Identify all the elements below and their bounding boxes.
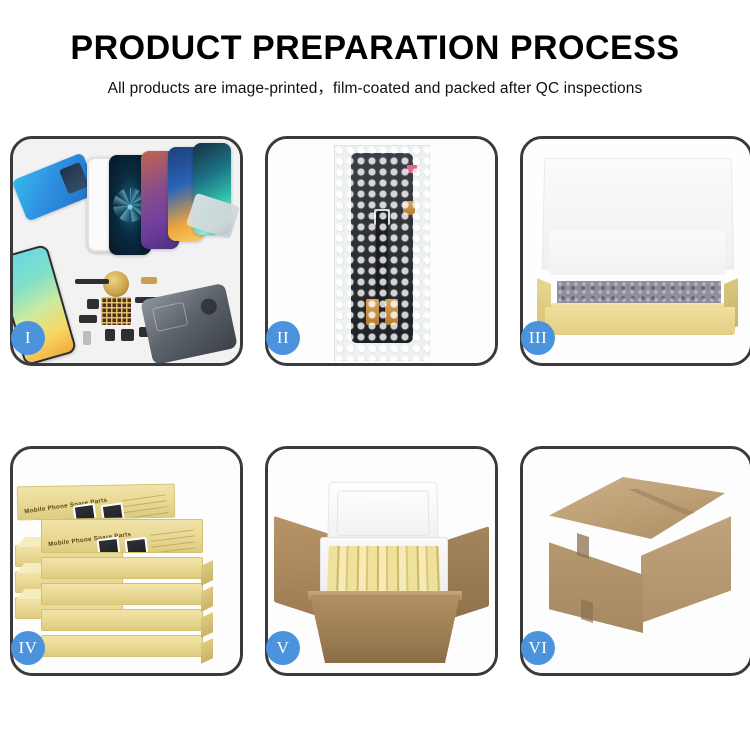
foam-lid-icon xyxy=(327,482,439,545)
stacked-box xyxy=(41,635,203,657)
step-badge-4: IV xyxy=(11,631,45,665)
tape-icon xyxy=(403,201,415,215)
pink-label-icon xyxy=(407,165,417,173)
adhesive-film-icon xyxy=(13,152,98,221)
process-step-panel-2: II xyxy=(265,136,498,366)
box-stack-icon: Mobile Phone Spare Parts Mobile Phone Sp… xyxy=(13,449,240,673)
step-badge-3: III xyxy=(521,321,555,355)
stacked-box-printed: Mobile Phone Spare Parts xyxy=(41,519,203,553)
step-2-image xyxy=(268,139,495,363)
small-part-icon xyxy=(87,299,99,309)
step-badge-6: VI xyxy=(521,631,555,665)
product-preparation-page: PRODUCT PREPARATION PROCESS All products… xyxy=(0,0,750,750)
step-1-image xyxy=(13,139,240,363)
step-badge-1: I xyxy=(11,321,45,355)
tape-icon xyxy=(366,299,379,325)
chip-grid-icon xyxy=(101,297,131,325)
page-header: PRODUCT PREPARATION PROCESS All products… xyxy=(0,0,750,98)
process-step-panel-3: III xyxy=(520,136,750,366)
stacked-box xyxy=(41,557,203,579)
step-badge-2: II xyxy=(266,321,300,355)
tape-icon xyxy=(385,299,398,325)
box-side-edge-icon xyxy=(201,638,213,664)
carton-tape-icon xyxy=(581,599,593,623)
small-part-icon xyxy=(79,315,97,323)
small-part-icon xyxy=(141,277,157,284)
step-6-image xyxy=(523,449,750,673)
small-part-icon xyxy=(105,329,115,341)
foam-sheet-icon xyxy=(549,231,725,275)
carton-front-face-icon xyxy=(549,525,643,633)
process-step-panel-4: Mobile Phone Spare Parts Mobile Phone Sp… xyxy=(10,446,243,676)
page-subtitle: All products are image-printed，film-coat… xyxy=(0,76,750,98)
carton-body-icon xyxy=(310,595,460,663)
step-badge-5: V xyxy=(266,631,300,665)
box-product-photo-icon xyxy=(96,537,121,553)
packed-boxes-icon xyxy=(327,546,441,591)
box-side-edge-icon xyxy=(201,586,213,612)
step-4-image: Mobile Phone Spare Parts Mobile Phone Sp… xyxy=(13,449,240,673)
process-step-panel-5: V xyxy=(265,446,498,676)
box-front-panel-icon xyxy=(545,307,735,335)
box-side-edge-icon xyxy=(201,612,213,638)
box-spec-lines-icon xyxy=(150,529,198,553)
box-product-photo-icon xyxy=(73,503,98,521)
small-part-icon xyxy=(83,331,91,345)
small-part-icon xyxy=(75,279,109,284)
page-title: PRODUCT PREPARATION PROCESS xyxy=(0,30,750,67)
phone-parts-collage-icon xyxy=(13,139,240,363)
stacked-box-printed: Mobile Phone Spare Parts xyxy=(17,484,176,521)
small-part-icon xyxy=(121,329,134,341)
carton-top-face-icon xyxy=(549,477,725,539)
process-steps-grid: I II xyxy=(10,136,740,684)
carton-tape-icon xyxy=(577,533,589,559)
step-3-image xyxy=(523,139,750,363)
gold-connector-icon xyxy=(103,271,129,297)
stacked-box xyxy=(41,609,203,631)
process-step-panel-6: VI xyxy=(520,446,750,676)
process-step-panel-1: I xyxy=(10,136,243,366)
lcd-screen-icon xyxy=(351,153,413,343)
box-spec-lines-icon xyxy=(122,494,170,520)
box-side-edge-icon xyxy=(201,560,213,586)
step-5-image xyxy=(268,449,495,673)
box-product-photo-icon xyxy=(124,537,149,553)
phone-housing-icon xyxy=(140,283,238,363)
stacked-box xyxy=(41,583,203,605)
